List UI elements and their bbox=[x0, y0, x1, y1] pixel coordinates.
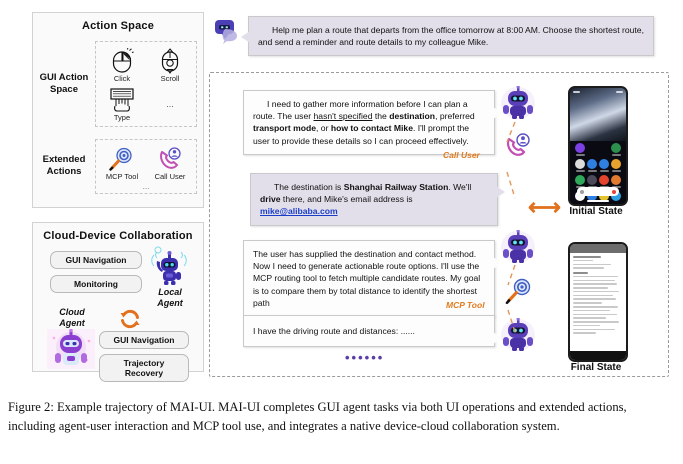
mail-bottom-bar bbox=[570, 351, 626, 360]
phone-initial-state bbox=[568, 86, 628, 206]
app-icon[interactable] bbox=[586, 143, 598, 156]
user-avatar-icon bbox=[213, 17, 243, 52]
left-column: Action Space GUI Action Space bbox=[32, 12, 204, 372]
user-bubble-step-2: The destination is Shanghai Railway Stat… bbox=[250, 173, 498, 226]
agent-step-1-text: I need to gather more information before… bbox=[253, 98, 485, 147]
action-scroll-label: Scroll bbox=[146, 74, 194, 83]
gui-action-icons-box: Click bbox=[95, 41, 197, 127]
magnifier-gear-icon bbox=[98, 145, 146, 173]
gui-more-actions: ... bbox=[146, 85, 194, 124]
app-icon[interactable] bbox=[598, 143, 610, 156]
action-mcp-tool[interactable]: MCP Tool bbox=[98, 144, 146, 183]
action-call-user-label: Call User bbox=[146, 172, 194, 181]
app-icon[interactable] bbox=[586, 175, 598, 188]
phone-user-icon bbox=[146, 145, 194, 173]
bubble-tail bbox=[241, 31, 250, 43]
user-step-2-text: The destination is Shanghai Railway Stat… bbox=[260, 181, 488, 218]
cloud-agent-label: Cloud Agent bbox=[47, 307, 97, 329]
app-icon[interactable] bbox=[574, 143, 586, 156]
continuation-dots: •••••• bbox=[345, 350, 384, 365]
action-type[interactable]: Type bbox=[98, 85, 146, 124]
action-mcp-tool-label: MCP Tool bbox=[98, 172, 146, 181]
mail-app-bar bbox=[570, 244, 626, 253]
local-agent-avatar bbox=[148, 245, 190, 292]
mouse-click-icon bbox=[98, 47, 146, 75]
app-icon[interactable] bbox=[574, 175, 586, 188]
action-space-title: Action Space bbox=[33, 13, 203, 38]
mail-content bbox=[570, 253, 626, 351]
gui-action-space-label: GUI Action Space bbox=[33, 72, 95, 96]
keyboard-type-icon bbox=[98, 86, 146, 114]
figure-caption: Figure 2: Example trajectory of MAI-UI. … bbox=[8, 398, 675, 435]
action-scroll[interactable]: Scroll bbox=[146, 46, 194, 85]
extended-actions-label: Extended Actions bbox=[33, 154, 95, 178]
action-type-label: Type bbox=[98, 113, 146, 122]
agent-step-4-text: I have the driving route and distances: … bbox=[253, 325, 485, 337]
app-icon[interactable] bbox=[610, 143, 622, 156]
figure-body: Action Space GUI Action Space bbox=[0, 0, 683, 392]
local-agent-label: Local Agent bbox=[145, 287, 195, 309]
cloud-agent-avatar bbox=[47, 329, 95, 374]
action-tag-mcp-tool: MCP Tool bbox=[446, 300, 485, 310]
app-icon[interactable] bbox=[598, 175, 610, 188]
extended-action-icons-box: MCP Tool Call User bbox=[95, 139, 197, 194]
action-click-label: Click bbox=[98, 74, 146, 83]
android-home-screen bbox=[570, 88, 626, 204]
extended-more-dots: ... bbox=[98, 183, 194, 191]
cloud-device-collaboration-panel: Cloud-Device Collaboration GUI Navigatio… bbox=[32, 222, 204, 372]
nav-gesture-bar bbox=[587, 200, 609, 202]
phone-final-state-label: Final State bbox=[546, 362, 646, 373]
local-cap-gui-navigation[interactable]: GUI Navigation bbox=[50, 251, 142, 269]
gui-more-dots: ... bbox=[146, 86, 194, 122]
user-request-bubble: Help me plan a route that departs from t… bbox=[248, 16, 654, 56]
cloud-cap-trajectory-recovery[interactable]: Trajectory Recovery bbox=[99, 354, 189, 382]
local-capabilities: GUI Navigation Monitoring bbox=[50, 251, 142, 293]
app-icon[interactable] bbox=[610, 175, 622, 188]
cloud-cap-gui-navigation[interactable]: GUI Navigation bbox=[99, 331, 189, 349]
agent-bubble-step-4: I have the driving route and distances: … bbox=[243, 315, 495, 347]
app-icon[interactable] bbox=[586, 159, 598, 172]
status-bar bbox=[570, 88, 626, 95]
app-icon[interactable] bbox=[610, 159, 622, 172]
app-grid bbox=[574, 143, 622, 206]
extended-actions-row: Extended Actions bbox=[33, 130, 203, 202]
wallpaper bbox=[570, 88, 626, 141]
action-tag-call-user: Call User bbox=[443, 150, 480, 160]
gui-action-space-row: GUI Action Space bbox=[33, 38, 203, 130]
cloud-capabilities: GUI Navigation Trajectory Recovery bbox=[99, 331, 189, 382]
local-cap-monitoring[interactable]: Monitoring bbox=[50, 275, 142, 293]
action-click[interactable]: Click bbox=[98, 46, 146, 85]
mouse-scroll-icon bbox=[146, 47, 194, 75]
action-call-user[interactable]: Call User bbox=[146, 144, 194, 183]
action-space-panel: Action Space GUI Action Space bbox=[32, 12, 204, 208]
app-icon[interactable] bbox=[598, 159, 610, 172]
flow-connectors bbox=[495, 80, 545, 370]
phone-final-state bbox=[568, 242, 628, 362]
google-search-bar[interactable] bbox=[577, 187, 619, 196]
agent-bubble-step-1: I need to gather more information before… bbox=[243, 90, 495, 155]
email-compose-screen bbox=[570, 244, 626, 360]
phone-initial-state-label: Initial State bbox=[546, 206, 646, 217]
user-request-text: Help me plan a route that departs from t… bbox=[258, 24, 644, 48]
app-icon[interactable] bbox=[574, 159, 586, 172]
